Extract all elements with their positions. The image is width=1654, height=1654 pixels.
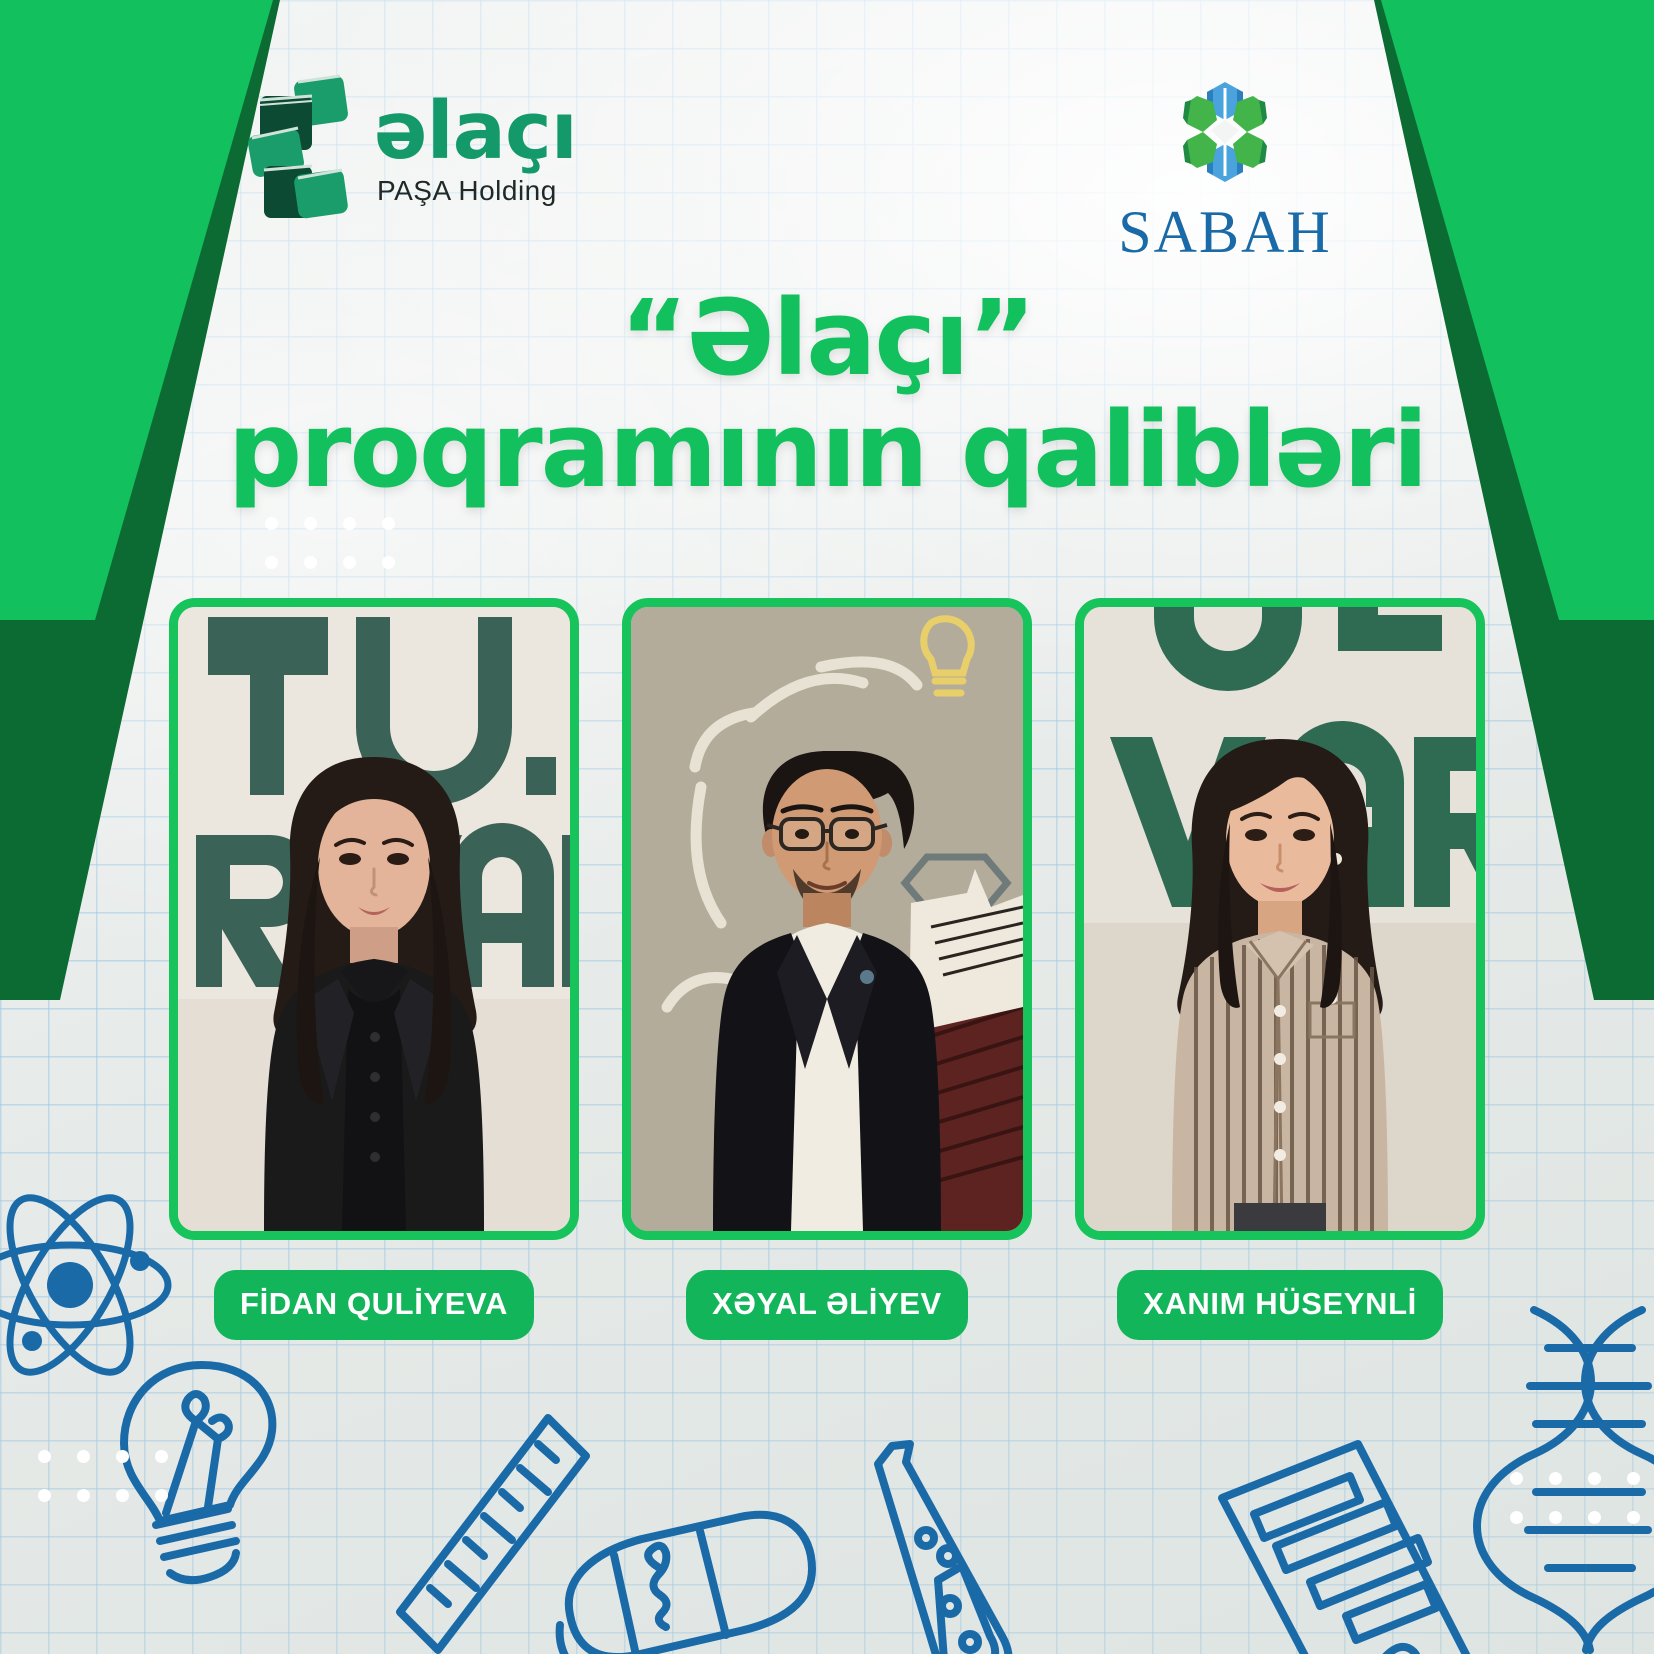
title-line-1: “Əlaçı” <box>0 282 1654 394</box>
sabah-flower-icon <box>1163 70 1287 194</box>
test-tube-icon <box>830 1430 1030 1654</box>
winner-card[interactable]: XANIM HÜSEYNLİ <box>1075 598 1485 1340</box>
title-line-2: proqramının qalibləri <box>0 394 1654 506</box>
winner-name-badge: FİDAN QULİYEVA <box>214 1270 534 1340</box>
winner-name-badge: XƏYAL ƏLİYEV <box>686 1270 968 1340</box>
poster-title: “Əlaçı” proqramının qalibləri <box>0 282 1654 507</box>
dot-grid-icon <box>38 1450 168 1502</box>
winner-photo <box>169 598 579 1240</box>
stacked-books-icon <box>248 72 350 224</box>
poster-canvas: əlaçı PAŞA Holding <box>0 0 1654 1654</box>
elaci-pasa-holding-logo: əlaçı PAŞA Holding <box>248 72 577 224</box>
dot-grid-icon <box>1510 1472 1640 1524</box>
winner-name-badge: XANIM HÜSEYNLİ <box>1117 1270 1443 1340</box>
winner-photo <box>622 598 1032 1240</box>
clipboard-icon <box>1200 1440 1490 1654</box>
winner-photo <box>1075 598 1485 1240</box>
eraser-icon <box>540 1515 830 1654</box>
sabah-wordmark: SABAH <box>1110 198 1340 267</box>
poster-header: əlaçı PAŞA Holding <box>0 0 1654 280</box>
sabah-logo: SABAH <box>1110 70 1340 267</box>
winner-card[interactable]: FİDAN QULİYEVA <box>169 598 579 1340</box>
elaci-wordmark: əlaçı <box>374 92 577 171</box>
winner-card[interactable]: XƏYAL ƏLİYEV <box>622 598 1032 1340</box>
dot-grid-icon <box>265 517 395 569</box>
pasa-holding-subtitle: PAŞA Holding <box>374 177 577 205</box>
winners-row: FİDAN QULİYEVA <box>0 598 1654 1340</box>
